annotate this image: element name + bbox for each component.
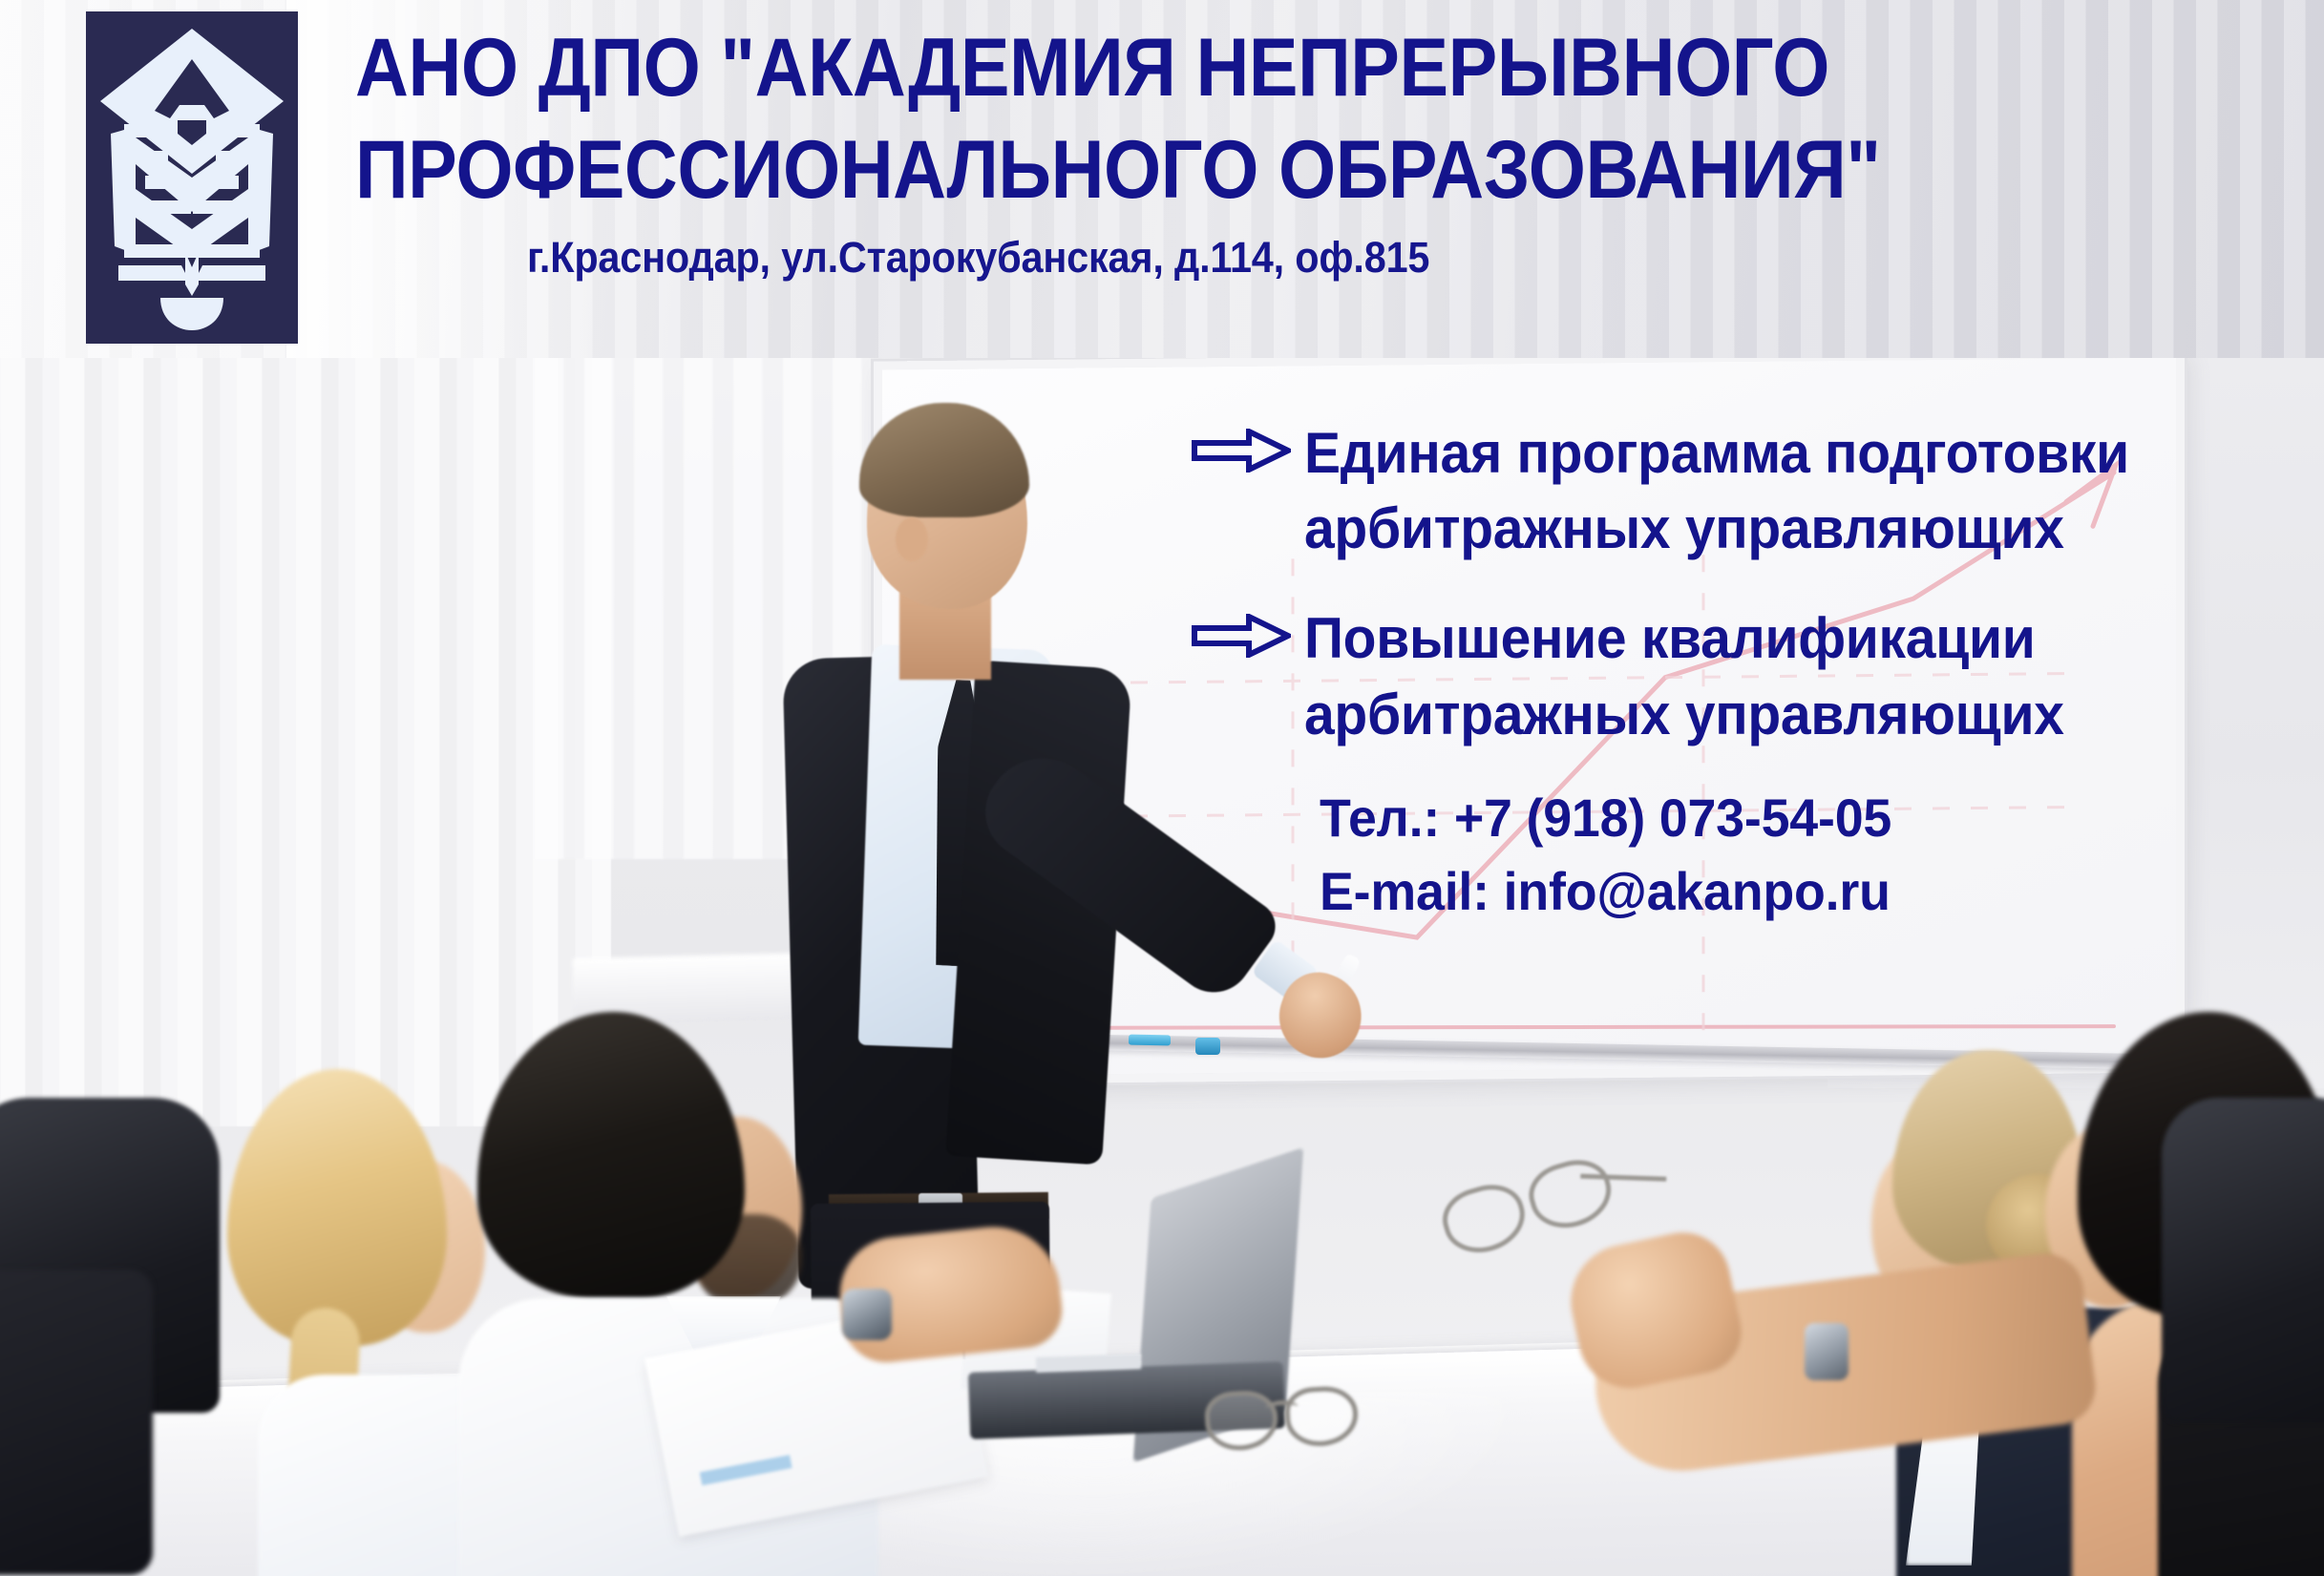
lens xyxy=(1436,1176,1532,1261)
wristwatch xyxy=(1805,1323,1849,1380)
right-arrow-outline-icon xyxy=(1192,614,1291,658)
org-title-line-2: ПРОФЕССИОНАЛЬНОГО ОБРАЗОВАНИЯ" xyxy=(355,119,1954,221)
advertising-banner: АНО ДПО "АКАДЕМИЯ НЕПРЕРЫВНОГО ПРОФЕССИО… xyxy=(0,0,2324,1576)
hair xyxy=(477,1012,745,1298)
office-chair xyxy=(2162,1098,2324,1422)
phone-number[interactable]: Тел.: +7 (918) 073-54-05 xyxy=(1320,781,1891,854)
contact-block: Тел.: +7 (918) 073-54-05 E-mail: info@ak… xyxy=(1320,781,1891,929)
lens xyxy=(1284,1385,1360,1448)
blue-marker xyxy=(1195,1038,1220,1055)
offer-line-2: арбитражных управляющих xyxy=(1304,683,2064,746)
lens xyxy=(1522,1152,1618,1237)
hair xyxy=(859,403,1029,517)
page-title: АНО ДПО "АКАДЕМИЯ НЕПРЕРЫВНОГО ПРОФЕССИО… xyxy=(355,17,1954,221)
org-address: г.Краснодар, ул.Старокубанская, д.114, о… xyxy=(527,234,2003,282)
ear xyxy=(896,517,928,561)
eyeglasses-on-table xyxy=(1204,1385,1360,1446)
eyeglasses-held xyxy=(1436,1152,1619,1264)
wristwatch xyxy=(842,1289,892,1340)
offer-item: Повышение квалификации арбитражных управ… xyxy=(1192,600,2146,751)
org-title-line-1: АНО ДПО "АКАДЕМИЯ НЕПРЕРЫВНОГО xyxy=(355,22,1829,114)
header-text-block: АНО ДПО "АКАДЕМИЯ НЕПРЕРЫВНОГО ПРОФЕССИО… xyxy=(355,17,2131,282)
offer-line-2: арбитражных управляющих xyxy=(1304,496,2064,560)
office-chair-seat xyxy=(0,1270,153,1575)
offer-text: Единая программа подготовки арбитражных … xyxy=(1304,415,2129,566)
hair xyxy=(227,1069,447,1346)
offers-list: Единая программа подготовки арбитражных … xyxy=(1192,415,2146,787)
graduation-cap-over-open-book-icon xyxy=(86,11,298,344)
offer-line-1: Повышение квалификации xyxy=(1304,606,2035,670)
email-address[interactable]: E-mail: info@akanpo.ru xyxy=(1320,854,1891,928)
offer-text: Повышение квалификации арбитражных управ… xyxy=(1304,600,2064,751)
lens xyxy=(1204,1389,1279,1452)
offer-line-1: Единая программа подготовки xyxy=(1304,421,2129,485)
right-arrow-outline-icon xyxy=(1192,429,1291,473)
academy-logo xyxy=(86,11,298,344)
offer-item: Единая программа подготовки арбитражных … xyxy=(1192,415,2146,566)
